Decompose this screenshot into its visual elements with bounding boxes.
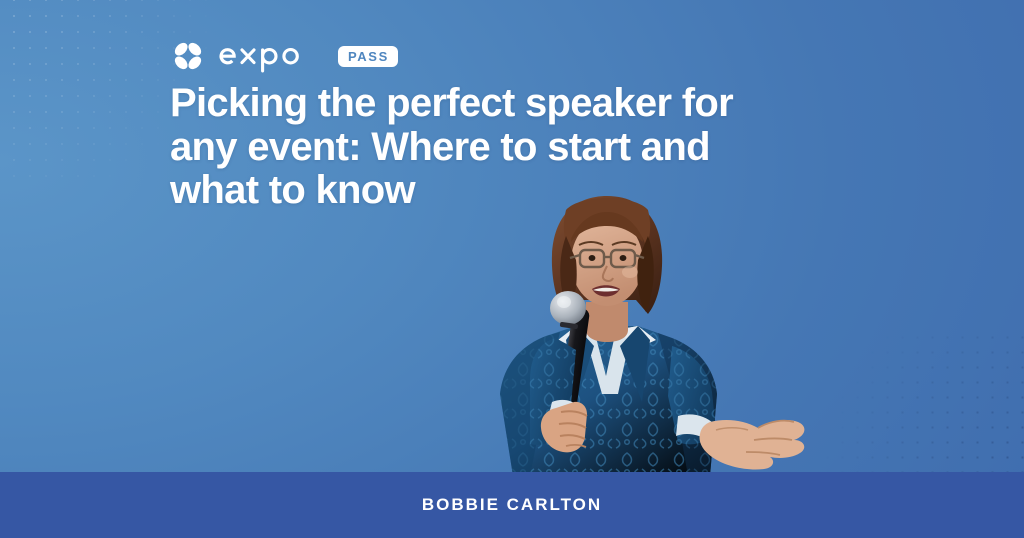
open-palm-hand [700, 420, 805, 470]
article-header-graphic: PASS Picking the perfect speaker for any… [0, 0, 1024, 538]
expo-wordmark [217, 39, 325, 73]
pass-badge: PASS [338, 46, 398, 67]
four-petal-mark-icon [170, 38, 206, 74]
speaker-name-banner: BOBBIE CARLTON [0, 472, 1024, 538]
expo-pass-logo[interactable]: PASS [170, 38, 398, 74]
speaker-name: BOBBIE CARLTON [422, 495, 602, 515]
speaker-photo [380, 180, 850, 476]
